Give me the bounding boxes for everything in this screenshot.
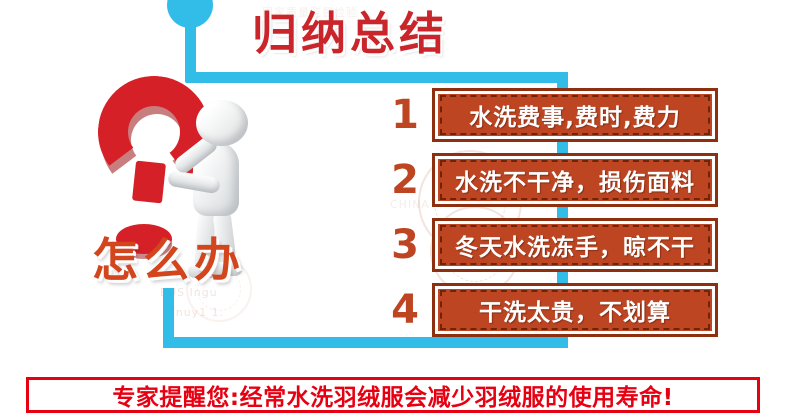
item-number: 1 bbox=[388, 95, 422, 135]
expert-reminder-banner: 专家提醒您:经常水洗羽绒服会减少羽绒服的使用寿命! bbox=[26, 377, 760, 413]
item-box-inner-border: 水洗费事,费时,费力 bbox=[440, 95, 710, 135]
item-box[interactable]: 干洗太贵，不划算 bbox=[432, 283, 718, 337]
item-label: 干洗太贵，不划算 bbox=[479, 293, 671, 327]
item-label: 水洗不干净，损伤面料 bbox=[455, 163, 695, 197]
item-number: 3 bbox=[388, 225, 422, 265]
list-item: 4 干洗太贵，不划算 bbox=[388, 281, 718, 339]
item-box-inner-border: 干洗太贵，不划算 bbox=[440, 290, 710, 330]
item-box-inner-border: 水洗不干净，损伤面料 bbox=[440, 160, 710, 200]
item-box[interactable]: 冬天水洗冻手，晾不干 bbox=[432, 218, 718, 272]
item-box[interactable]: 水洗不干净，损伤面料 bbox=[432, 153, 718, 207]
reason-list: 1 水洗费事,费时,费力 2 水洗不干净，损伤面料 3 冬天水洗冻手，晾不干 bbox=[388, 86, 718, 346]
item-box[interactable]: 水洗费事,费时,费力 bbox=[432, 88, 718, 142]
item-label: 水洗费事,费时,费力 bbox=[469, 98, 680, 132]
illustration-caption: 怎么办 bbox=[92, 224, 245, 290]
watermark-text: Tnuy1 1. bbox=[168, 306, 224, 319]
item-label: 冬天水洗冻手，晾不干 bbox=[455, 228, 695, 262]
list-item: 1 水洗费事,费时,费力 bbox=[388, 86, 718, 144]
list-item: 2 水洗不干净，损伤面料 bbox=[388, 151, 718, 209]
connector-stem bbox=[185, 22, 196, 78]
illustration-group: 怎么办 bbox=[70, 72, 320, 297]
list-item: 3 冬天水洗冻手，晾不干 bbox=[388, 216, 718, 274]
item-number: 2 bbox=[388, 160, 422, 200]
infographic-canvas: EUS Ingu Tnuy1 1. 国家质量监督检验 CHINA 归纳总结 怎么… bbox=[0, 0, 790, 420]
item-box-inner-border: 冬天水洗冻手，晾不干 bbox=[440, 225, 710, 265]
item-number: 4 bbox=[388, 290, 422, 330]
page-title: 归纳总结 bbox=[252, 6, 448, 62]
banner-text: 专家提醒您:经常水洗羽绒服会减少羽绒服的使用寿命! bbox=[112, 378, 673, 412]
